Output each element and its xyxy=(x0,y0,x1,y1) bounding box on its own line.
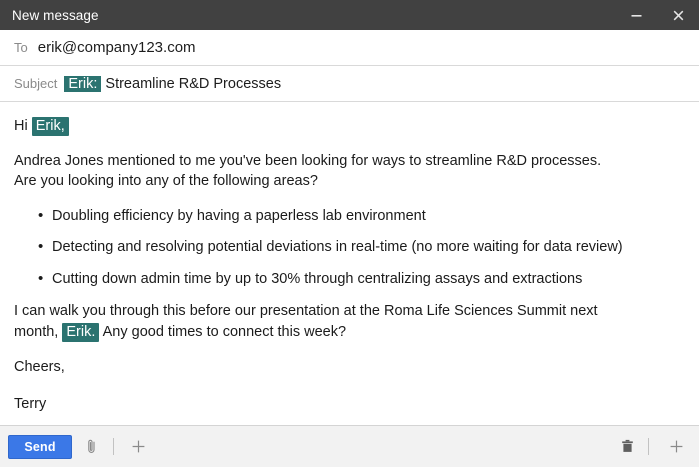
to-field-row[interactable]: To erik@company123.com xyxy=(0,30,699,66)
signature-line: Terry xyxy=(14,394,626,415)
window-controls xyxy=(615,0,699,30)
subject-text: Streamline R&D Processes xyxy=(105,76,281,92)
to-label: To xyxy=(14,40,28,55)
paragraph-2-part-2: Any good times to connect this week? xyxy=(103,324,346,340)
list-item: Cutting down admin time by up to 30% thr… xyxy=(38,269,683,290)
subject-highlight-chip: Erik: xyxy=(64,76,101,92)
greeting-line: Hi Erik, xyxy=(14,116,683,137)
toolbar-left-group: Send xyxy=(8,434,608,460)
greeting-prefix: Hi xyxy=(14,118,28,134)
to-input[interactable]: erik@company123.com xyxy=(38,39,196,56)
greeting-highlight-chip: Erik, xyxy=(32,117,69,136)
subject-label: Subject xyxy=(14,76,57,91)
close-icon[interactable] xyxy=(657,0,699,30)
body-bullet-list: Doubling efficiency by having a paperles… xyxy=(14,206,683,290)
paragraph-2-highlight-chip: Erik. xyxy=(62,323,99,342)
message-body[interactable]: Hi Erik, Andrea Jones mentioned to me yo… xyxy=(0,102,699,425)
compose-window: New message To erik@company123.com Subje… xyxy=(0,0,699,467)
plus-icon[interactable] xyxy=(663,434,689,460)
plus-icon[interactable] xyxy=(125,434,151,460)
subject-input[interactable]: Erik: Streamline R&D Processes xyxy=(64,76,281,92)
list-item: Doubling efficiency by having a paperles… xyxy=(38,206,683,227)
window-title: New message xyxy=(12,8,615,23)
list-item: Detecting and resolving potential deviat… xyxy=(38,237,683,258)
paperclip-icon[interactable] xyxy=(78,434,104,460)
toolbar-divider-right xyxy=(648,438,649,455)
toolbar-divider xyxy=(113,438,114,455)
body-paragraph-2: I can walk you through this before our p… xyxy=(14,301,626,342)
minimize-icon[interactable] xyxy=(615,0,657,30)
toolbar-right-group xyxy=(608,434,689,460)
send-button[interactable]: Send xyxy=(8,435,72,459)
trash-icon[interactable] xyxy=(614,434,640,460)
body-paragraph-1: Andrea Jones mentioned to me you've been… xyxy=(14,151,626,192)
window-titlebar: New message xyxy=(0,0,699,30)
subject-field-row[interactable]: Subject Erik: Streamline R&D Processes xyxy=(0,66,699,102)
closing-line: Cheers, xyxy=(14,357,626,378)
compose-toolbar: Send xyxy=(0,425,699,467)
